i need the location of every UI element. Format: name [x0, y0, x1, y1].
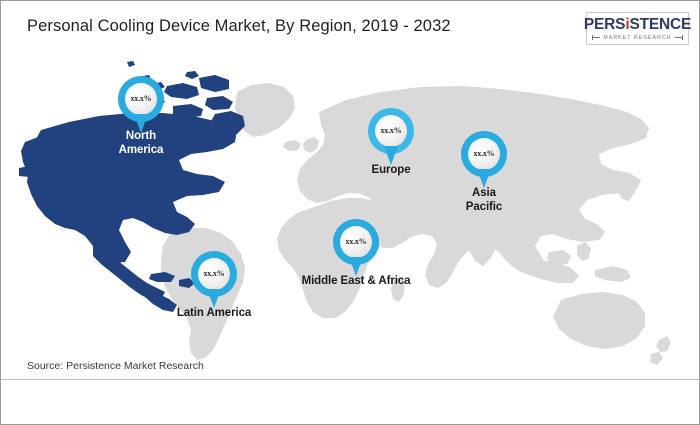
map-pin-europe[interactable]: xx.x% Europe [368, 108, 414, 164]
pin-marker-icon: xx.x% [333, 219, 379, 275]
pin-value-europe: xx.x% [380, 127, 401, 135]
logo-rule-left-icon [592, 37, 600, 38]
region-iceland [283, 140, 301, 151]
source-note: Source: Persistence Market Research [27, 360, 204, 372]
pin-bubble: xx.x% [198, 258, 230, 290]
pin-pointer-icon [207, 289, 221, 308]
pin-pointer-icon [477, 169, 491, 188]
logo-rule-right-icon [675, 37, 683, 38]
pin-marker-icon: xx.x% [118, 76, 164, 132]
map-pin-middle-east-africa[interactable]: xx.x% Middle East & Africa [333, 219, 379, 275]
pin-value-latin-america: xx.x% [203, 270, 224, 278]
pin-bubble: xx.x% [340, 226, 372, 258]
region-british-isles [303, 137, 319, 153]
region-canadian-arctic-2 [164, 83, 199, 99]
logo-word-part1: PERS [584, 16, 625, 33]
pin-value-north-america: xx.x% [130, 95, 151, 103]
region-arctic-speck-2 [185, 71, 199, 79]
chart-figure: Personal Cooling Device Market, By Regio… [0, 0, 700, 425]
page-title: Personal Cooling Device Market, By Regio… [27, 17, 451, 36]
logo-wordmark: PERSiSTENCE [584, 17, 691, 33]
pin-label-europe: Europe [371, 164, 410, 178]
region-greenland [235, 83, 295, 137]
region-australia [553, 292, 645, 349]
pin-bubble: xx.x% [375, 115, 407, 147]
pin-value-middle-east-africa: xx.x% [345, 238, 366, 246]
pin-marker-icon: xx.x% [191, 251, 237, 307]
figure-header: Personal Cooling Device Market, By Regio… [1, 1, 700, 59]
region-new-zealand [656, 336, 671, 352]
pin-label-middle-east-africa: Middle East & Africa [302, 275, 411, 289]
region-philippines [577, 242, 591, 261]
region-new-zealand-south [650, 352, 663, 365]
pin-value-asia-pacific: xx.x% [473, 150, 494, 158]
region-india [467, 229, 497, 266]
map-pin-latin-america[interactable]: xx.x% Latin America [191, 251, 237, 307]
region-canadian-arctic-5 [205, 96, 233, 110]
region-new-guinea [595, 266, 631, 282]
figure-footer: Source: Persistence Market Research [1, 379, 700, 424]
region-southeast-asia-islands [519, 260, 579, 283]
world-map: xx.x% North America xx.x% Latin America [1, 56, 700, 381]
pin-marker-icon: xx.x% [368, 108, 414, 164]
map-pin-north-america[interactable]: xx.x% North America [118, 76, 164, 132]
region-canadian-arctic-3 [199, 75, 229, 92]
pin-label-north-america: North America [119, 130, 164, 157]
region-arctic-speck-4 [127, 61, 135, 67]
pin-bubble: xx.x% [125, 83, 157, 115]
logo-word-part2: STENCE [629, 16, 691, 33]
pin-bubble: xx.x% [468, 138, 500, 170]
pin-label-latin-america: Latin America [177, 307, 251, 321]
logo-subtitle: MARKET RESEARCH [603, 35, 671, 41]
pin-label-asia-pacific: Asia Pacific [466, 187, 502, 214]
pin-pointer-icon [384, 146, 398, 165]
pin-pointer-icon [349, 257, 363, 276]
map-pin-asia-pacific[interactable]: xx.x% Asia Pacific [461, 131, 507, 187]
pin-marker-icon: xx.x% [461, 131, 507, 187]
persistence-market-research-logo: PERSiSTENCE MARKET RESEARCH [586, 12, 689, 45]
logo-subtitle-row: MARKET RESEARCH [592, 35, 682, 41]
